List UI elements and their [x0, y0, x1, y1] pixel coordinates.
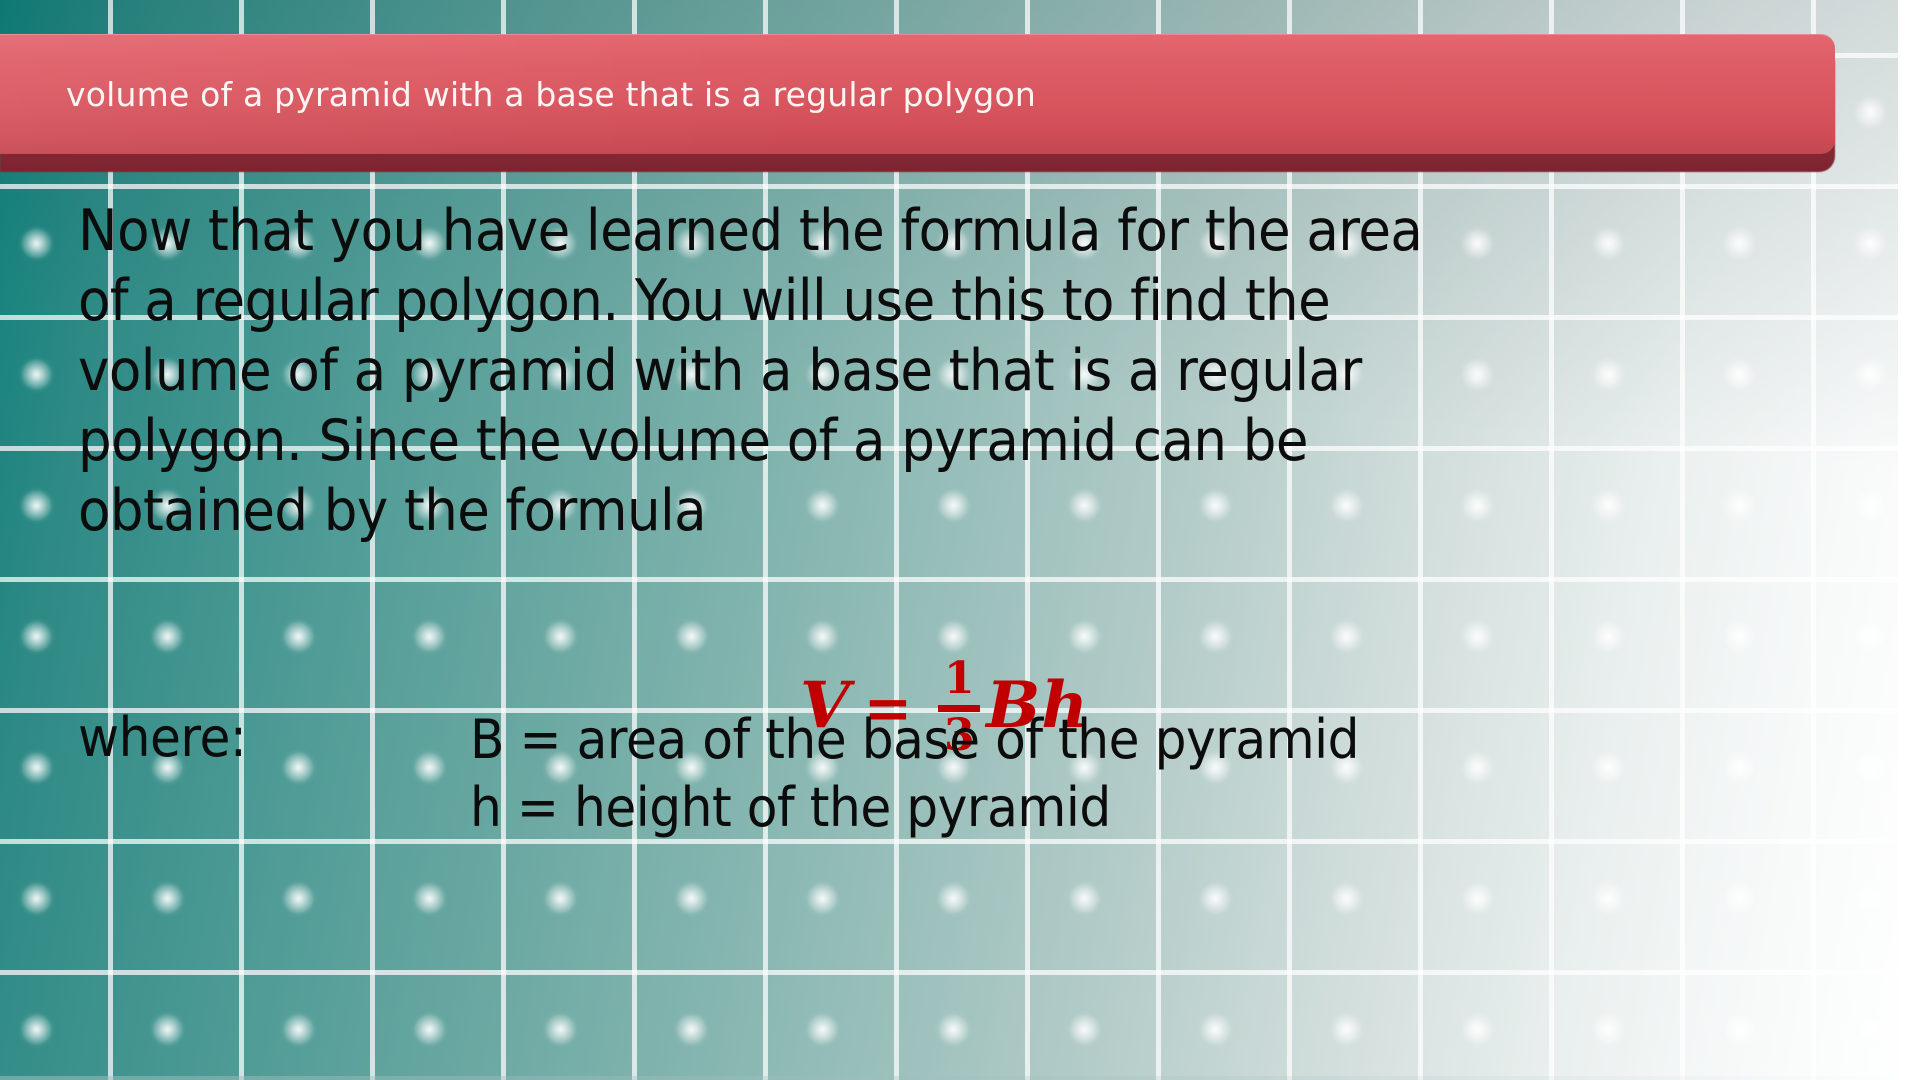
where-definitions: B = area of the base of the pyramid h = … [470, 706, 1359, 842]
title-banner-container: volume of a pyramid with a base that is … [0, 34, 1835, 158]
body-text-block: Now that you have learned the formula fo… [78, 196, 1436, 546]
where-label: where: [78, 706, 246, 769]
definition-height: h = height of the pyramid [470, 774, 1359, 842]
definition-base-area: B = area of the base of the pyramid [470, 706, 1359, 774]
body-paragraph: Now that you have learned the formula fo… [78, 196, 1436, 546]
slide-canvas: volume of a pyramid with a base that is … [0, 0, 1920, 1080]
right-edge-strip [1898, 0, 1920, 1080]
bottom-edge-strip [0, 1076, 1920, 1080]
slide-title: volume of a pyramid with a base that is … [66, 34, 1036, 154]
fraction-numerator: 1 [940, 657, 979, 702]
